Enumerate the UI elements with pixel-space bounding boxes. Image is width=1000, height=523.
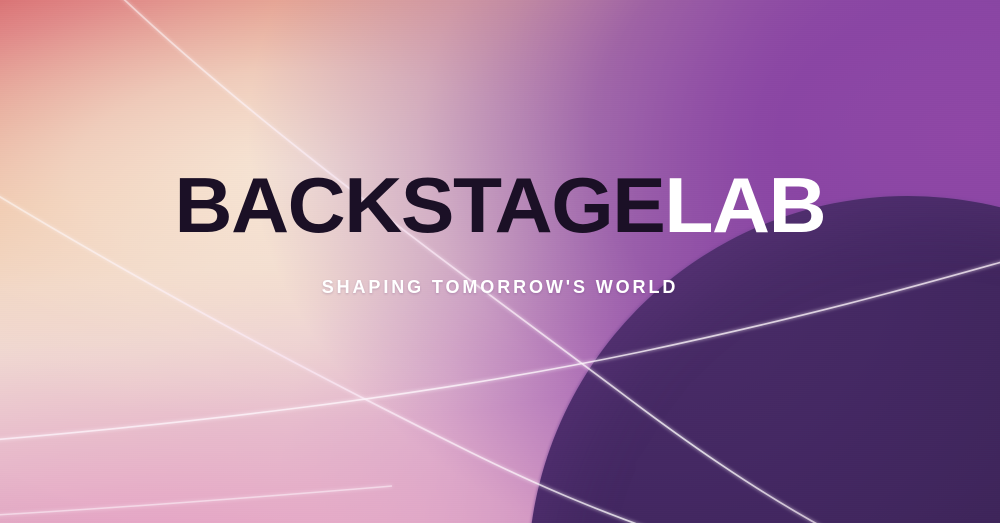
logo-word-backstage: BACKSTAGE (175, 161, 665, 249)
logo-wordmark: BACKSTAGELAB (175, 166, 826, 244)
brand-tagline: SHAPING TOMORROW'S WORLD (322, 278, 679, 296)
logo-word-lab: LAB (665, 161, 826, 249)
brand-banner: BACKSTAGELAB SHAPING TOMORROW'S WORLD (0, 0, 1000, 523)
brand-content: BACKSTAGELAB SHAPING TOMORROW'S WORLD (0, 0, 1000, 523)
